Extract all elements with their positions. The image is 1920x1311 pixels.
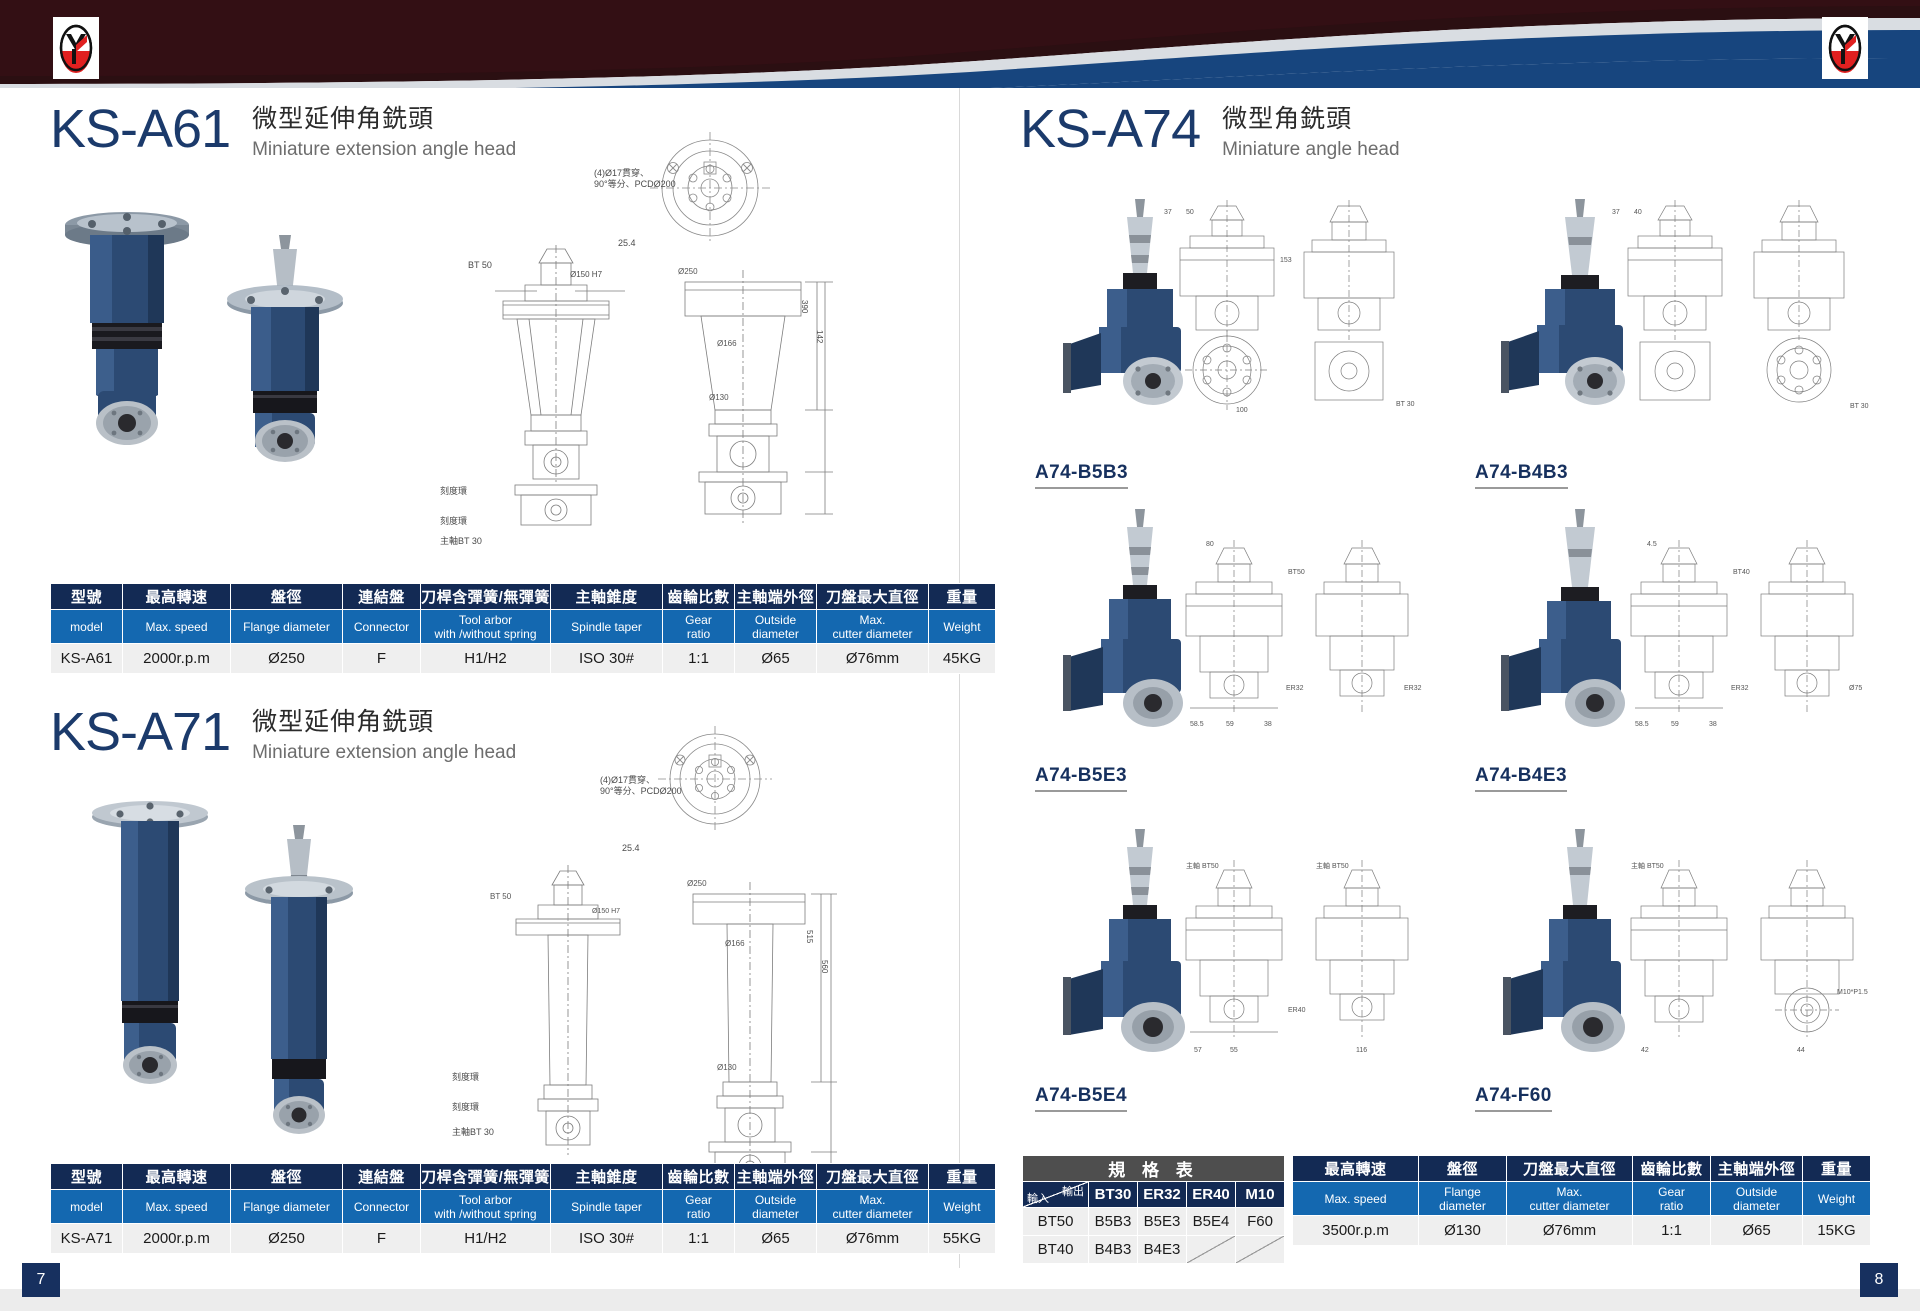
spec-header-cn-connector: 連結盤 — [343, 584, 421, 610]
svg-text:37: 37 — [1612, 209, 1620, 216]
spec-table-ks-a71: 型號 最高轉速 盤徑 連結盤 刀桿含彈簧/無彈簧 主軸錐度 齒輪比數 主軸端外徑… — [50, 1163, 996, 1254]
spec-header-cn-cutter: 刀盤最大直徑 — [817, 1164, 929, 1190]
drawing-note-ks-a71-holes: (4)Ø17貫穿、 90°等分、PCDØ200 — [600, 775, 682, 797]
svg-text:57: 57 — [1194, 1047, 1202, 1054]
spec-header-cn-model: 型號 — [51, 1164, 123, 1190]
svg-text:37: 37 — [1164, 209, 1172, 216]
spec-header-cn-flange: 盤徑 — [231, 1164, 343, 1190]
spec-header-cn-weight: 重量 — [929, 584, 996, 610]
drawing-note-ks-a61-bt50: BT 50 — [468, 260, 492, 270]
kingsun-logo-icon — [1825, 21, 1865, 75]
technical-drawing-ks-a61-elevation: Ø250 Ø166 Ø130 — [655, 250, 845, 550]
svg-text:M10*P1.5: M10*P1.5 — [1837, 989, 1868, 996]
product-name-en: Miniature angle head — [1222, 137, 1399, 163]
spec-value-speed: 2000r.p.m — [123, 644, 231, 674]
spec-value-taper: ISO 30# — [551, 644, 663, 674]
brand-logo-left — [53, 17, 99, 79]
svg-text:58.5: 58.5 — [1635, 721, 1649, 728]
spec-header-en-arbor: Tool arbor with /without spring — [421, 1190, 551, 1224]
svg-text:59: 59 — [1671, 721, 1679, 728]
brand-logo-right — [1822, 17, 1868, 79]
svg-text:58.5: 58.5 — [1190, 721, 1204, 728]
spec-header-cn-gear: 齒輪比數 — [663, 1164, 735, 1190]
top-banner — [0, 0, 1920, 88]
product-name-cn: 微型角銑頭 — [1222, 104, 1399, 134]
svg-text:116: 116 — [1356, 1047, 1367, 1054]
diagonal-strike-icon — [1187, 1236, 1235, 1263]
model-matrix-table: 規 格 表 輸出 輸入 BT30 ER32 ER40 M10 BT50 B5B3… — [1022, 1155, 1285, 1264]
spec-table-ks-a61: 型號 最高轉速 盤徑 連結盤 刀桿含彈簧/無彈簧 主軸錐度 齒輪比數 主軸端外徑… — [50, 583, 996, 674]
drawing-note-ks-a61-scale-ring: 刻度環 — [440, 485, 467, 498]
spec-header-cn-taper: 主軸錐度 — [551, 1164, 663, 1190]
spec-header-en-weight: Weight — [1803, 1182, 1871, 1216]
spec-header-en-gear: Gear ratio — [663, 1190, 735, 1224]
spec-header-cn-connector: 連結盤 — [343, 1164, 421, 1190]
drawing-note-ks-a61-scale-ring-2: 刻度環 — [440, 515, 467, 528]
matrix-cell: B4E3 — [1138, 1236, 1187, 1264]
spec-header-cn-outside: 主軸端外徑 — [735, 1164, 817, 1190]
technical-drawing-a74-b5b3: 37 50 153 100 BT 30 — [1150, 200, 1430, 420]
matrix-title: 規 格 表 — [1023, 1156, 1285, 1182]
svg-text:Ø75: Ø75 — [1849, 685, 1862, 692]
spec-header-en-gear: Gear ratio — [663, 610, 735, 644]
spec-value-flange: Ø250 — [231, 1224, 343, 1254]
svg-text:ER32: ER32 — [1404, 685, 1422, 692]
spec-header-cn-speed: 最高轉速 — [123, 1164, 231, 1190]
spec-header-en-flange: Flange diameter — [1419, 1182, 1507, 1216]
svg-text:4.5: 4.5 — [1647, 541, 1657, 548]
model-label-wrap-a74-f60: A74-F60 — [1475, 1085, 1725, 1112]
spec-header-en-arbor: Tool arbor with /without spring — [421, 610, 551, 644]
product-photo-ks-a61-front — [52, 195, 202, 455]
spec-header-cn-flange: 盤徑 — [231, 584, 343, 610]
drawing-note-ks-a61-holes: (4)Ø17貫穿、 90°等分、PCDØ200 — [594, 168, 676, 190]
drawing-note-ks-a71-25: 25.4 — [622, 843, 640, 853]
svg-text:ER40: ER40 — [1288, 1007, 1306, 1014]
model-label-wrap-a74-b5b3: A74-B5B3 — [1035, 462, 1285, 489]
matrix-row-header: BT50 — [1023, 1208, 1089, 1236]
spec-table-ks-a74: 最高轉速 盤徑 刀盤最大直徑 齒輪比數 主軸端外徑 重量 Max. speed … — [1292, 1155, 1871, 1246]
product-code: KS-A74 — [1020, 100, 1200, 158]
svg-text:BT 50: BT 50 — [490, 892, 512, 901]
spec-value-cutter: Ø76mm — [817, 644, 929, 674]
matrix-cell: B5B3 — [1089, 1208, 1138, 1236]
spec-header-cn-weight: 重量 — [1803, 1156, 1871, 1182]
spec-header-cn-outside: 主軸端外徑 — [1711, 1156, 1803, 1182]
spec-value-speed: 3500r.p.m — [1293, 1216, 1419, 1246]
matrix-row-header: BT40 — [1023, 1236, 1089, 1264]
spec-header-cn-flange: 盤徑 — [1419, 1156, 1507, 1182]
spec-header-cn-row: 最高轉速 盤徑 刀盤最大直徑 齒輪比數 主軸端外徑 重量 — [1293, 1156, 1871, 1182]
spec-header-en-flange: Flange diameter — [231, 610, 343, 644]
spec-value-gear: 1:1 — [1633, 1216, 1711, 1246]
spec-header-cn-speed: 最高轉速 — [123, 584, 231, 610]
product-name-cn: 微型延伸角銑頭 — [252, 707, 516, 737]
svg-text:ER32: ER32 — [1731, 685, 1749, 692]
svg-text:Ø130: Ø130 — [717, 1063, 737, 1072]
spec-value-weight: 15KG — [1803, 1216, 1871, 1246]
model-label: A74-B5E3 — [1035, 765, 1127, 792]
svg-text:Ø166: Ø166 — [717, 339, 737, 348]
spec-value-flange: Ø250 — [231, 644, 343, 674]
spec-value-outside: Ø65 — [1711, 1216, 1803, 1246]
drawing-note-ks-a71-scale-ring-2: 刻度環 — [452, 1100, 479, 1113]
spec-header-en-outside: Outside diameter — [1711, 1182, 1803, 1216]
matrix-col-header-er32: ER32 — [1138, 1182, 1187, 1208]
svg-text:主軸 BT50: 主軸 BT50 — [1186, 861, 1219, 870]
spec-header-en-cutter: Max. cutter diameter — [1507, 1182, 1633, 1216]
spec-value-row: KS-A61 2000r.p.m Ø250 F H1/H2 ISO 30# 1:… — [51, 644, 996, 674]
spec-value-arbor: H1/H2 — [421, 1224, 551, 1254]
technical-drawing-a74-b5e4: 主軸 BT50 ER40 57 55 主軸 BT50 116 — [1160, 860, 1430, 1065]
model-label-wrap-a74-b4e3: A74-B4E3 — [1475, 765, 1725, 792]
spec-value-cutter: Ø76mm — [1507, 1216, 1633, 1246]
spec-value-speed: 2000r.p.m — [123, 1224, 231, 1254]
drawing-note-ks-a61-spindle-bt30: 主軸BT 30 — [440, 535, 482, 548]
spec-header-cn-row: 型號 最高轉速 盤徑 連結盤 刀桿含彈簧/無彈簧 主軸錐度 齒輪比數 主軸端外徑… — [51, 584, 996, 610]
kingsun-logo-icon — [56, 21, 96, 75]
spec-header-en-model: model — [51, 610, 123, 644]
svg-text:ER32: ER32 — [1286, 685, 1304, 692]
svg-text:BT 30: BT 30 — [1850, 403, 1869, 410]
svg-text:42: 42 — [1641, 1047, 1649, 1054]
diagonal-strike-icon — [1236, 1236, 1284, 1263]
svg-text:Ø250: Ø250 — [687, 879, 707, 888]
page-number-left: 7 — [22, 1263, 60, 1297]
svg-text:主軸 BT50: 主軸 BT50 — [1316, 861, 1349, 870]
svg-text:Ø250: Ø250 — [678, 267, 698, 276]
product-photo-ks-a71-front — [80, 795, 220, 1125]
spec-header-en-row: model Max. speed Flange diameter Connect… — [51, 610, 996, 644]
spec-header-en-outside: Outside diameter — [735, 1190, 817, 1224]
technical-drawing-a74-b4b3: 37 40 BT 30 — [1600, 200, 1880, 420]
drawing-note-ks-a71-spindle-bt30: 主軸BT 30 — [452, 1125, 494, 1138]
spec-value-taper: ISO 30# — [551, 1224, 663, 1254]
spec-header-en-gear: Gear ratio — [1633, 1182, 1711, 1216]
product-name-cn: 微型延伸角銑頭 — [252, 104, 516, 134]
spec-header-en-taper: Spindle taper — [551, 610, 663, 644]
matrix-corner-cell: 輸出 輸入 — [1023, 1182, 1089, 1208]
spec-header-cn-cutter: 刀盤最大直徑 — [1507, 1156, 1633, 1182]
spec-value-gear: 1:1 — [663, 644, 735, 674]
spec-value-cutter: Ø76mm — [817, 1224, 929, 1254]
matrix-cell: B5E3 — [1138, 1208, 1187, 1236]
model-label-wrap-a74-b4b3: A74-B4B3 — [1475, 462, 1725, 489]
matrix-row-bt40: BT40 B4B3 B4E3 — [1023, 1236, 1285, 1264]
product-heading-ks-a74: KS-A74 微型角銑頭 Miniature angle head — [1020, 100, 1400, 163]
matrix-cell-empty — [1187, 1236, 1236, 1264]
product-photo-ks-a61-angle — [205, 235, 365, 475]
spec-header-cn-arbor: 刀桿含彈簧/無彈簧 — [421, 584, 551, 610]
product-code: KS-A61 — [50, 100, 230, 158]
spec-header-en-row: model Max. speed Flange diameter Connect… — [51, 1190, 996, 1224]
technical-drawing-ks-a61-section — [455, 245, 655, 545]
spec-header-en-cutter: Max. cutter diameter — [817, 1190, 929, 1224]
spec-header-en-cutter: Max. cutter diameter — [817, 610, 929, 644]
svg-text:55: 55 — [1230, 1047, 1238, 1054]
svg-text:主軸 BT50: 主軸 BT50 — [1631, 861, 1664, 870]
spec-value-row: 3500r.p.m Ø130 Ø76mm 1:1 Ø65 15KG — [1293, 1216, 1871, 1246]
spec-value-model: KS-A61 — [51, 644, 123, 674]
spec-header-cn-gear: 齒輪比數 — [663, 584, 735, 610]
spec-header-cn-gear: 齒輪比數 — [1633, 1156, 1711, 1182]
spec-header-en-flange: Flange diameter — [231, 1190, 343, 1224]
matrix-col-header-m10: M10 — [1236, 1182, 1285, 1208]
spec-value-flange: Ø130 — [1419, 1216, 1507, 1246]
dimension-ks-a71-560: 560 — [820, 960, 829, 973]
spec-value-model: KS-A71 — [51, 1224, 123, 1254]
technical-drawing-ks-a71-elevation: Ø250 Ø166 Ø130 — [665, 870, 845, 1190]
technical-drawing-a74-b5e3: 80 BT50 ER32 58.5 59 38 ER32 — [1160, 540, 1430, 740]
spec-header-cn-row: 型號 最高轉速 盤徑 連結盤 刀桿含彈簧/無彈簧 主軸錐度 齒輪比數 主軸端外徑… — [51, 1164, 996, 1190]
svg-text:Ø130: Ø130 — [709, 393, 729, 402]
matrix-header-row: 輸出 輸入 BT30 ER32 ER40 M10 — [1023, 1182, 1285, 1208]
technical-drawing-a74-b4e3: 4.5 BT40 ER32 58.5 59 38 Ø75 — [1605, 540, 1875, 740]
product-name-en: Miniature extension angle head — [252, 740, 516, 766]
spec-value-outside: Ø65 — [735, 644, 817, 674]
svg-text:38: 38 — [1709, 721, 1717, 728]
model-label-wrap-a74-b5e4: A74-B5E4 — [1035, 1085, 1285, 1112]
spec-value-outside: Ø65 — [735, 1224, 817, 1254]
svg-text:BT 30: BT 30 — [1396, 401, 1415, 408]
page-number-right: 8 — [1860, 1263, 1898, 1297]
spec-header-cn-arbor: 刀桿含彈簧/無彈簧 — [421, 1164, 551, 1190]
dimension-ks-a61-390: 390 — [800, 300, 809, 313]
matrix-col-header-bt30: BT30 — [1089, 1182, 1138, 1208]
matrix-row-bt50: BT50 B5B3 B5E3 B5E4 F60 — [1023, 1208, 1285, 1236]
svg-text:59: 59 — [1226, 721, 1234, 728]
svg-text:38: 38 — [1264, 721, 1272, 728]
svg-text:Ø166: Ø166 — [725, 939, 745, 948]
spec-header-en-connector: Connector — [343, 1190, 421, 1224]
spec-header-en-weight: Weight — [929, 1190, 996, 1224]
svg-text:40: 40 — [1634, 209, 1642, 216]
spec-header-en-row: Max. speed Flange diameter Max. cutter d… — [1293, 1182, 1871, 1216]
matrix-title-row: 規 格 表 — [1023, 1156, 1285, 1182]
dimension-ks-a71-515: 515 — [805, 930, 814, 943]
product-photo-ks-a71-angle — [225, 825, 375, 1145]
technical-drawing-a74-f60: 主軸 BT50 M10*P1.5 42 44 — [1605, 860, 1875, 1065]
spec-value-weight: 55KG — [929, 1224, 996, 1254]
spec-value-weight: 45KG — [929, 644, 996, 674]
model-label: A74-B5E4 — [1035, 1085, 1127, 1112]
product-code: KS-A71 — [50, 703, 230, 761]
spec-header-en-connector: Connector — [343, 610, 421, 644]
catalog-spread: KS-A61 微型延伸角銑頭 Miniature extension angle… — [0, 0, 1920, 1311]
svg-text:BT50: BT50 — [1288, 569, 1305, 576]
model-label: A74-B4B3 — [1475, 462, 1568, 489]
spec-header-en-speed: Max. speed — [123, 1190, 231, 1224]
matrix-cell: B5E4 — [1187, 1208, 1236, 1236]
svg-text:50: 50 — [1186, 209, 1194, 216]
footer-bar — [0, 1289, 1920, 1311]
svg-text:100: 100 — [1236, 407, 1248, 414]
spec-header-cn-outside: 主軸端外徑 — [735, 584, 817, 610]
matrix-cell-empty — [1236, 1236, 1285, 1264]
spec-header-en-outside: Outside diameter — [735, 610, 817, 644]
spec-value-connector: F — [343, 644, 421, 674]
page-divider — [959, 88, 960, 1268]
product-heading-ks-a71: KS-A71 微型延伸角銑頭 Miniature extension angle… — [50, 703, 516, 766]
dimension-ks-a61-398: 142 — [815, 330, 824, 343]
spec-header-cn-weight: 重量 — [929, 1164, 996, 1190]
spec-header-cn-model: 型號 — [51, 584, 123, 610]
svg-text:80: 80 — [1206, 541, 1214, 548]
spec-value-row: KS-A71 2000r.p.m Ø250 F H1/H2 ISO 30# 1:… — [51, 1224, 996, 1254]
matrix-corner-output-label: 輸出 — [1062, 1183, 1084, 1199]
spec-header-en-speed: Max. speed — [123, 610, 231, 644]
matrix-corner-input-label: 輸入 — [1027, 1190, 1049, 1206]
model-label: A74-B5B3 — [1035, 462, 1128, 489]
spec-header-cn-taper: 主軸錐度 — [551, 584, 663, 610]
model-label: A74-F60 — [1475, 1085, 1552, 1112]
drawing-note-ks-a61-flange-dia: Ø150 H7 — [570, 270, 602, 279]
svg-text:Ø150 H7: Ø150 H7 — [592, 908, 620, 915]
matrix-cell: B4B3 — [1089, 1236, 1138, 1264]
spec-header-cn-speed: 最高轉速 — [1293, 1156, 1419, 1182]
spec-header-cn-cutter: 刀盤最大直徑 — [817, 584, 929, 610]
matrix-col-header-er40: ER40 — [1187, 1182, 1236, 1208]
spec-header-en-model: model — [51, 1190, 123, 1224]
spec-header-en-speed: Max. speed — [1293, 1182, 1419, 1216]
matrix-cell: F60 — [1236, 1208, 1285, 1236]
technical-drawing-ks-a71-section: BT 50 Ø150 H7 — [470, 865, 660, 1195]
spec-header-en-taper: Spindle taper — [551, 1190, 663, 1224]
svg-text:44: 44 — [1797, 1047, 1805, 1054]
spec-value-arbor: H1/H2 — [421, 644, 551, 674]
model-label: A74-B4E3 — [1475, 765, 1567, 792]
product-heading-ks-a61: KS-A61 微型延伸角銑頭 Miniature extension angle… — [50, 100, 516, 163]
product-name-en: Miniature extension angle head — [252, 137, 516, 163]
spec-header-en-weight: Weight — [929, 610, 996, 644]
drawing-note-ks-a71-scale-ring: 刻度環 — [452, 1070, 479, 1083]
svg-text:153: 153 — [1280, 257, 1292, 264]
model-label-wrap-a74-b5e3: A74-B5E3 — [1035, 765, 1285, 792]
spec-value-gear: 1:1 — [663, 1224, 735, 1254]
svg-text:BT40: BT40 — [1733, 569, 1750, 576]
spec-value-connector: F — [343, 1224, 421, 1254]
